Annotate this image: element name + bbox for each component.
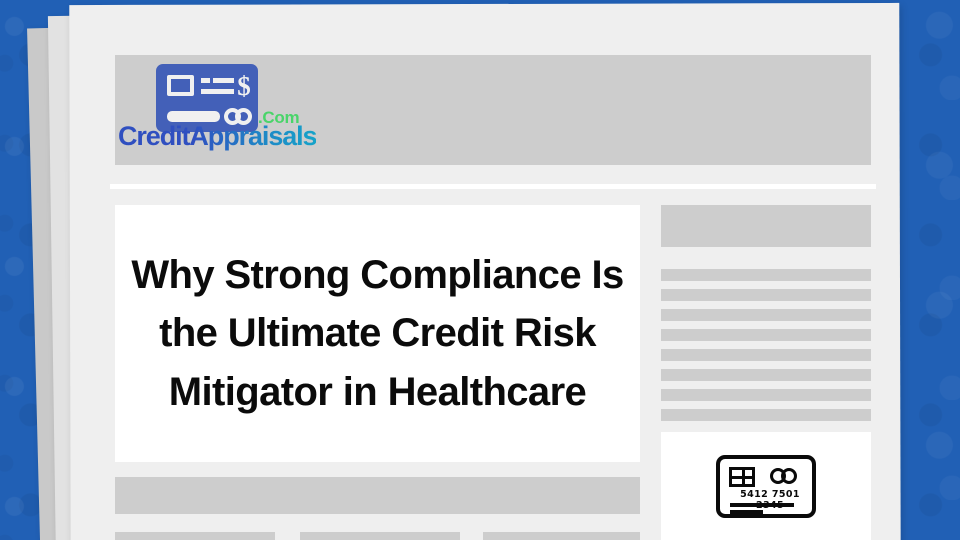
card-number: 5412 7501 2345 xyxy=(728,489,812,511)
sidebar-line xyxy=(661,289,871,301)
credit-card-illustration-icon: 5412 7501 2345 xyxy=(716,455,816,518)
sidebar-line xyxy=(661,389,871,401)
card-chip-icon xyxy=(729,467,755,487)
logo-brand-name: CreditAppraisals xyxy=(118,121,316,152)
card-detail-line-1 xyxy=(730,503,794,507)
sidebar-placeholder-lines xyxy=(661,269,871,421)
header-divider-rule xyxy=(110,184,876,189)
footer-placeholder-column-3 xyxy=(483,532,640,540)
footer-placeholder-column-2 xyxy=(300,532,460,540)
card-chip-line-horizontal xyxy=(732,476,752,479)
logo-card-dash-1 xyxy=(201,78,210,83)
card-detail-line-2 xyxy=(730,510,763,514)
sidebar xyxy=(661,205,871,429)
sidebar-line xyxy=(661,369,871,381)
article-title-card: Why Strong Compliance Is the Ultimate Cr… xyxy=(115,205,640,462)
credit-card-illustration-panel: 5412 7501 2345 xyxy=(661,432,871,540)
dollar-sign-icon: $ xyxy=(234,70,254,102)
document-page: $ .Com CreditAppraisals Why Strong Compl… xyxy=(0,0,960,540)
footer-placeholder-column-1 xyxy=(115,532,275,540)
sidebar-line xyxy=(661,269,871,281)
card-logo-circle-right xyxy=(781,468,797,484)
sidebar-line xyxy=(661,309,871,321)
page-title: Why Strong Compliance Is the Ultimate Cr… xyxy=(115,246,640,421)
sidebar-placeholder-block xyxy=(661,205,871,247)
sidebar-line xyxy=(661,349,871,361)
sidebar-line xyxy=(661,409,871,421)
site-logo[interactable]: $ .Com CreditAppraisals xyxy=(118,60,318,160)
logo-card-dash-3 xyxy=(201,89,234,94)
logo-card-photo-box xyxy=(167,75,194,96)
sidebar-line xyxy=(661,329,871,341)
logo-card-dash-2 xyxy=(213,78,234,83)
content-placeholder-block xyxy=(115,477,640,514)
